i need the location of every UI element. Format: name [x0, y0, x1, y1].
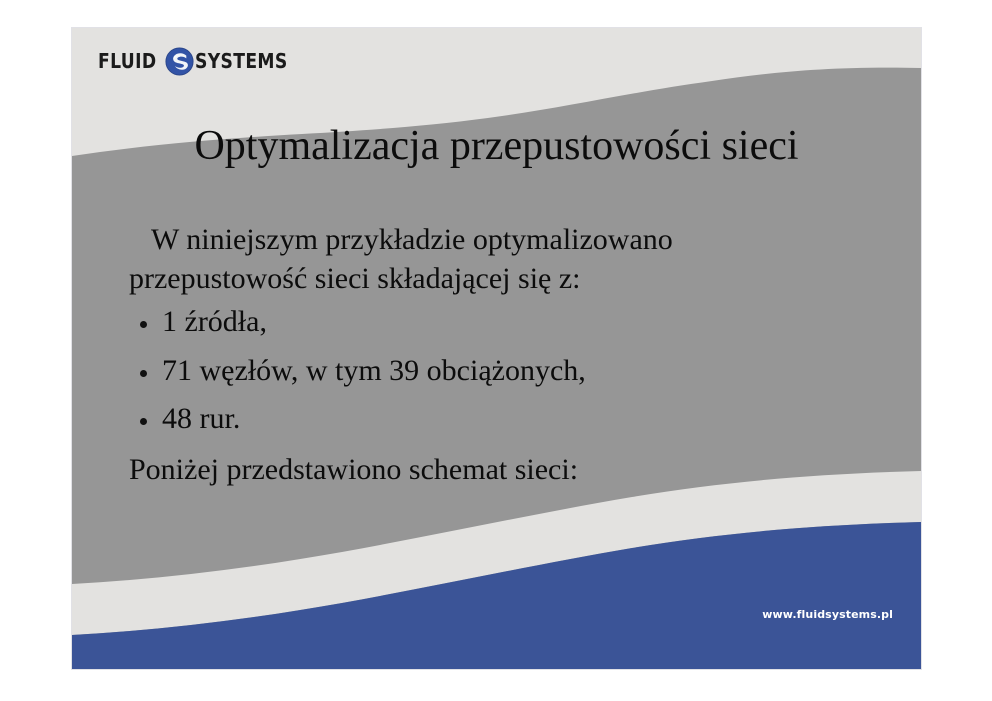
logo-word-fluid: FLUID	[98, 49, 156, 73]
presentation-slide: FLUID SYSTEMS Optymalizacja przepustowoś…	[72, 28, 921, 669]
closing-paragraph: Poniżej przedstawiono schemat sieci:	[129, 450, 789, 489]
intro-paragraph: W niniejszym przykładzie optymalizowano …	[129, 220, 789, 298]
slide-page: FLUID SYSTEMS Optymalizacja przepustowoś…	[0, 0, 992, 701]
list-item: 71 węzłów, w tym 39 obciążonych,	[129, 353, 869, 390]
logo-word-systems: SYSTEMS	[195, 49, 288, 73]
slide-body: W niniejszym przykładzie optymalizowano …	[129, 220, 869, 489]
footer-website-url: www.fluidsystems.pl	[762, 608, 893, 621]
slide-title: Optymalizacja przepustowości sieci	[72, 124, 921, 169]
bullet-list: 1 źródła, 71 węzłów, w tym 39 obciążonyc…	[129, 304, 869, 438]
list-item: 48 rur.	[129, 401, 869, 438]
brand-logo: FLUID SYSTEMS	[98, 46, 303, 76]
list-item: 1 źródła,	[129, 304, 869, 341]
s-swoosh-circle-icon	[165, 47, 194, 76]
